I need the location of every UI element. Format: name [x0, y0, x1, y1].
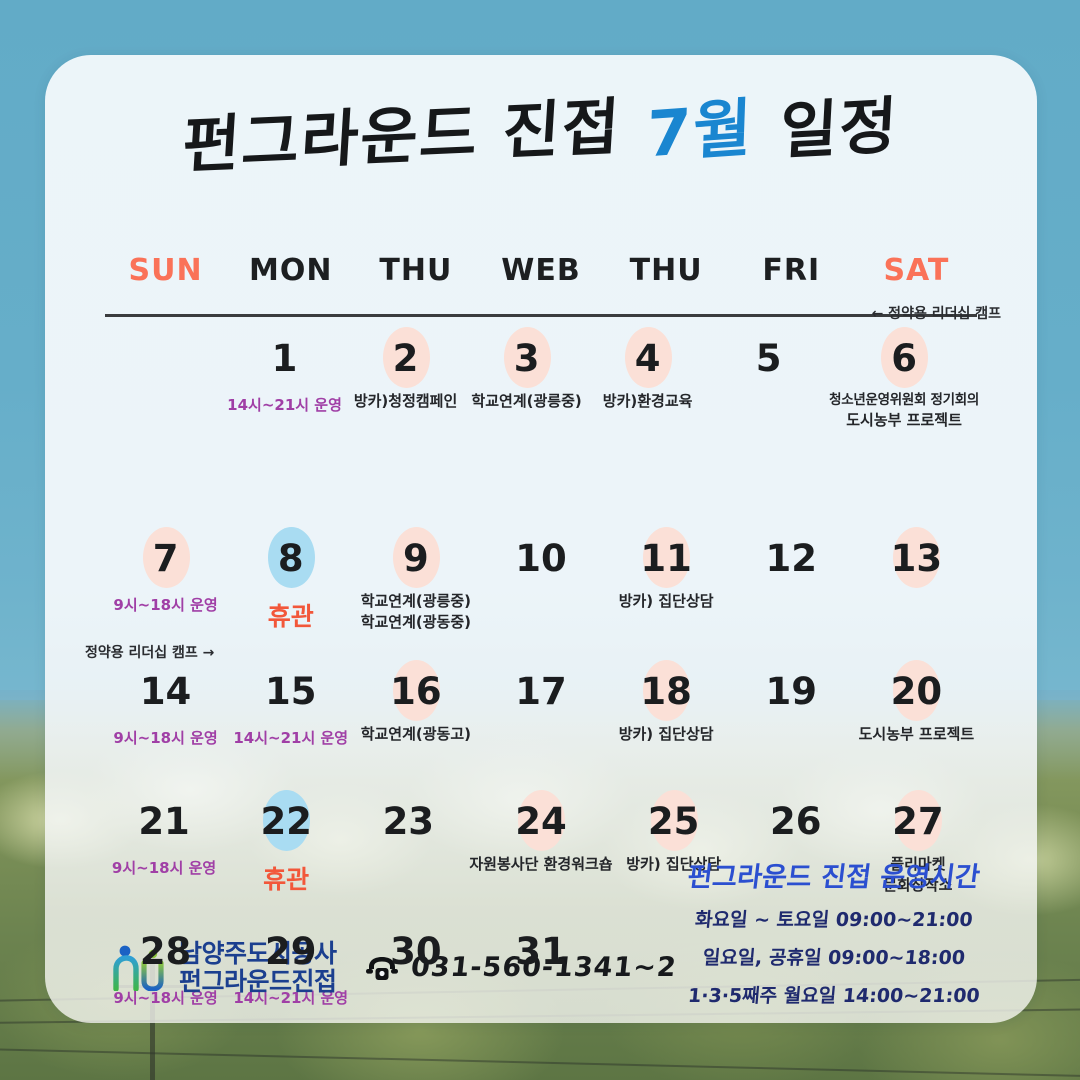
title-month: 7월: [646, 76, 756, 175]
operating-hours-label: 9시~18시 운영: [103, 727, 228, 748]
day-number: 1: [272, 337, 298, 380]
event-label: 방카) 집단상담: [604, 591, 729, 612]
day-cell-1[interactable]: 114시~21시 운영: [224, 323, 345, 523]
weekday-header-fri-5: FRI: [729, 253, 854, 288]
day-number: 28: [140, 930, 192, 973]
day-number: 11: [640, 537, 692, 580]
operating-hours-box: 펀그라운드 진접 운영시간 화요일 ~ 토요일 09:00~21:00 일요일,…: [645, 855, 1023, 1023]
operating-hours-label: 14시~21시 운영: [224, 394, 345, 415]
day-number-wrap: 20: [886, 662, 946, 722]
day-number-wrap: 8: [261, 529, 321, 589]
day-number-wrap: 3: [497, 329, 557, 389]
calendar-week-row: 149시~18시 운영1514시~21시 운영16학교연계(광동고)1718방카…: [103, 656, 979, 786]
weekday-header-web-3: WEB: [478, 253, 603, 288]
day-number-wrap: 11: [636, 529, 696, 589]
event-label: 방카)청정캠페인: [345, 391, 466, 412]
day-cell-12[interactable]: 12: [729, 523, 854, 656]
header-divider: [105, 314, 977, 317]
day-cell-9[interactable]: 9학교연계(광릉중)학교연계(광동중): [353, 523, 478, 656]
day-number-wrap: 24: [511, 792, 571, 852]
calendar-card: 펀그라운드 진접 7월 일정 SUNMONTHUWEBTHUFRISAT 114…: [45, 55, 1037, 1023]
day-number-wrap: 23: [378, 792, 438, 852]
day-number: 15: [265, 670, 317, 713]
operating-hours-title: 펀그라운드 진접 운영시간: [643, 855, 1026, 894]
day-number: 22: [260, 800, 312, 843]
day-cell-empty: [103, 323, 224, 523]
day-number: 19: [766, 670, 818, 713]
day-number: 6: [891, 337, 917, 380]
event-list: 학교연계(광릉중): [466, 391, 587, 412]
day-number: 2: [393, 337, 419, 380]
day-number: 17: [515, 670, 567, 713]
operating-hours-line: 화요일 ~ 토요일 09:00~21:00: [644, 905, 1024, 932]
day-cell-24[interactable]: 24자원봉사단 환경워크숍: [469, 786, 612, 916]
day-number: 16: [390, 670, 442, 713]
event-label: 학교연계(광동중): [353, 612, 478, 633]
day-cell-7[interactable]: 79시~18시 운영정약용 리더십 캠프 →: [103, 523, 228, 656]
event-list: 방카)환경교육: [587, 391, 708, 412]
day-number: 13: [891, 537, 943, 580]
day-number-wrap: 12: [761, 529, 821, 589]
event-label: 청소년운영위원회 정기회의: [829, 391, 979, 410]
day-cell-20[interactable]: 20도시농부 프로젝트: [854, 656, 979, 786]
day-number: 21: [138, 800, 190, 843]
event-list: 학교연계(광동고): [353, 724, 478, 745]
event-label: 방카)환경교육: [587, 391, 708, 412]
weekday-header-sat-6: SAT: [854, 253, 979, 288]
weekday-header-thu-4: THU: [604, 253, 729, 288]
day-number: 24: [515, 800, 567, 843]
day-cell-11[interactable]: 11방카) 집단상담: [604, 523, 729, 656]
day-number-wrap: 4: [618, 329, 678, 389]
day-number-wrap: 6: [874, 329, 934, 389]
weekday-header-row: SUNMONTHUWEBTHUFRISAT: [103, 253, 979, 288]
day-number: 4: [635, 337, 661, 380]
operating-hours-label: 14시~21시 운영: [228, 727, 353, 748]
day-number-wrap: 15: [261, 662, 321, 722]
day-number: 8: [278, 537, 304, 580]
day-number: 3: [514, 337, 540, 380]
day-number: 27: [892, 800, 944, 843]
event-label: 방카) 집단상담: [604, 724, 729, 745]
event-label: 학교연계(광릉중): [353, 591, 478, 612]
day-number-wrap: 26: [766, 792, 826, 852]
day-number-wrap: 1: [255, 329, 315, 389]
operating-hours-line: 일요일, 공휴일 09:00~18:00: [644, 943, 1024, 970]
day-number: 10: [515, 537, 567, 580]
title-part2: 일정: [778, 75, 901, 171]
day-number-wrap: 17: [511, 662, 571, 722]
day-number-wrap: 13: [886, 529, 946, 589]
page-title: 펀그라운드 진접 7월 일정: [45, 74, 1037, 181]
day-number-wrap: 14: [136, 662, 196, 722]
day-number-wrap: 2: [376, 329, 436, 389]
event-label: 자원봉사단 환경워크숍: [469, 854, 612, 875]
day-number-wrap: 22: [256, 792, 316, 852]
day-cell-6[interactable]: 6청소년운영위원회 정기회의도시농부 프로젝트← 정약용 리더십 캠프: [829, 323, 979, 523]
day-number: 31: [515, 930, 567, 973]
poster-root: 펀그라운드 진접 7월 일정 SUNMONTHUWEBTHUFRISAT 114…: [0, 0, 1080, 1080]
weekday-header-mon-1: MON: [228, 253, 353, 288]
day-cell-22[interactable]: 22휴관: [225, 786, 347, 916]
operating-hours-closed-note: 2·4째주 월요일 휴관: [644, 1021, 1024, 1023]
day-cell-4[interactable]: 4방카)환경교육: [587, 323, 708, 523]
day-cell-5[interactable]: 5: [708, 323, 829, 523]
event-label: 학교연계(광릉중): [466, 391, 587, 412]
event-label: 도시농부 프로젝트: [829, 410, 979, 431]
day-number-wrap: 9: [386, 529, 446, 589]
day-number-wrap: 19: [761, 662, 821, 722]
operating-hours-label: 9시~18시 운영: [103, 594, 228, 615]
event-list: 방카) 집단상담: [604, 724, 729, 745]
day-number: 30: [390, 930, 442, 973]
day-cell-13[interactable]: 13: [854, 523, 979, 656]
calendar-week-row: 79시~18시 운영정약용 리더십 캠프 →8휴관9학교연계(광릉중)학교연계(…: [103, 523, 979, 656]
day-cell-8[interactable]: 8휴관: [228, 523, 353, 656]
day-number: 26: [770, 800, 822, 843]
operating-hours-line: 1·3·5째주 월요일 14:00~21:00: [644, 981, 1024, 1008]
event-list: 방카)청정캠페인: [345, 391, 466, 412]
day-number-wrap: 10: [511, 529, 571, 589]
day-number-wrap: 7: [136, 529, 196, 589]
day-cell-3[interactable]: 3학교연계(광릉중): [466, 323, 587, 523]
day-number: 23: [383, 800, 435, 843]
day-cell-19[interactable]: 19: [729, 656, 854, 786]
day-cell-21[interactable]: 219시~18시 운영: [103, 786, 225, 916]
day-number: 14: [140, 670, 192, 713]
day-cell-23[interactable]: 23: [347, 786, 469, 916]
day-cell-2[interactable]: 2방카)청정캠페인: [345, 323, 466, 523]
event-list: 자원봉사단 환경워크숍: [469, 854, 612, 875]
title-part1: 펀그라운드 진접: [180, 76, 624, 185]
day-number-wrap: 5: [739, 329, 799, 389]
day-number-wrap: 18: [636, 662, 696, 722]
event-list: 도시농부 프로젝트: [854, 724, 979, 745]
day-number-wrap: 16: [386, 662, 446, 722]
operating-hours-label: 9시~18시 운영: [103, 857, 225, 878]
day-number: 18: [640, 670, 692, 713]
weekday-header-thu-2: THU: [353, 253, 478, 288]
closed-label: 휴관: [225, 860, 347, 896]
day-cell-15[interactable]: 1514시~21시 운영: [228, 656, 353, 786]
day-number: 7: [153, 537, 179, 580]
day-number: 12: [766, 537, 818, 580]
day-cell-14[interactable]: 149시~18시 운영: [103, 656, 228, 786]
day-cell-18[interactable]: 18방카) 집단상담: [604, 656, 729, 786]
day-number-wrap: 27: [888, 792, 948, 852]
day-number: 9: [403, 537, 429, 580]
day-number: 20: [891, 670, 943, 713]
day-number: 5: [756, 337, 782, 380]
event-list: 학교연계(광릉중)학교연계(광동중): [353, 591, 478, 634]
event-list: 청소년운영위원회 정기회의도시농부 프로젝트: [829, 391, 979, 431]
calendar-week-row: 114시~21시 운영2방카)청정캠페인3학교연계(광릉중)4방카)환경교육56…: [103, 323, 979, 523]
day-cell-10[interactable]: 10: [478, 523, 603, 656]
event-list: 방카) 집단상담: [604, 591, 729, 612]
day-number-wrap: 21: [134, 792, 194, 852]
event-label: 학교연계(광동고): [353, 724, 478, 745]
day-cell-16[interactable]: 16학교연계(광동고): [353, 656, 478, 786]
closed-label: 휴관: [228, 597, 353, 633]
event-label: 도시농부 프로젝트: [854, 724, 979, 745]
day-number: 25: [648, 800, 700, 843]
day-cell-17[interactable]: 17: [478, 656, 603, 786]
day-number: 29: [265, 930, 317, 973]
day-number-wrap: 25: [644, 792, 704, 852]
weekday-header-sun-0: SUN: [103, 253, 228, 288]
camp-span-note-right: ← 정약용 리더십 캠프: [872, 303, 1001, 323]
